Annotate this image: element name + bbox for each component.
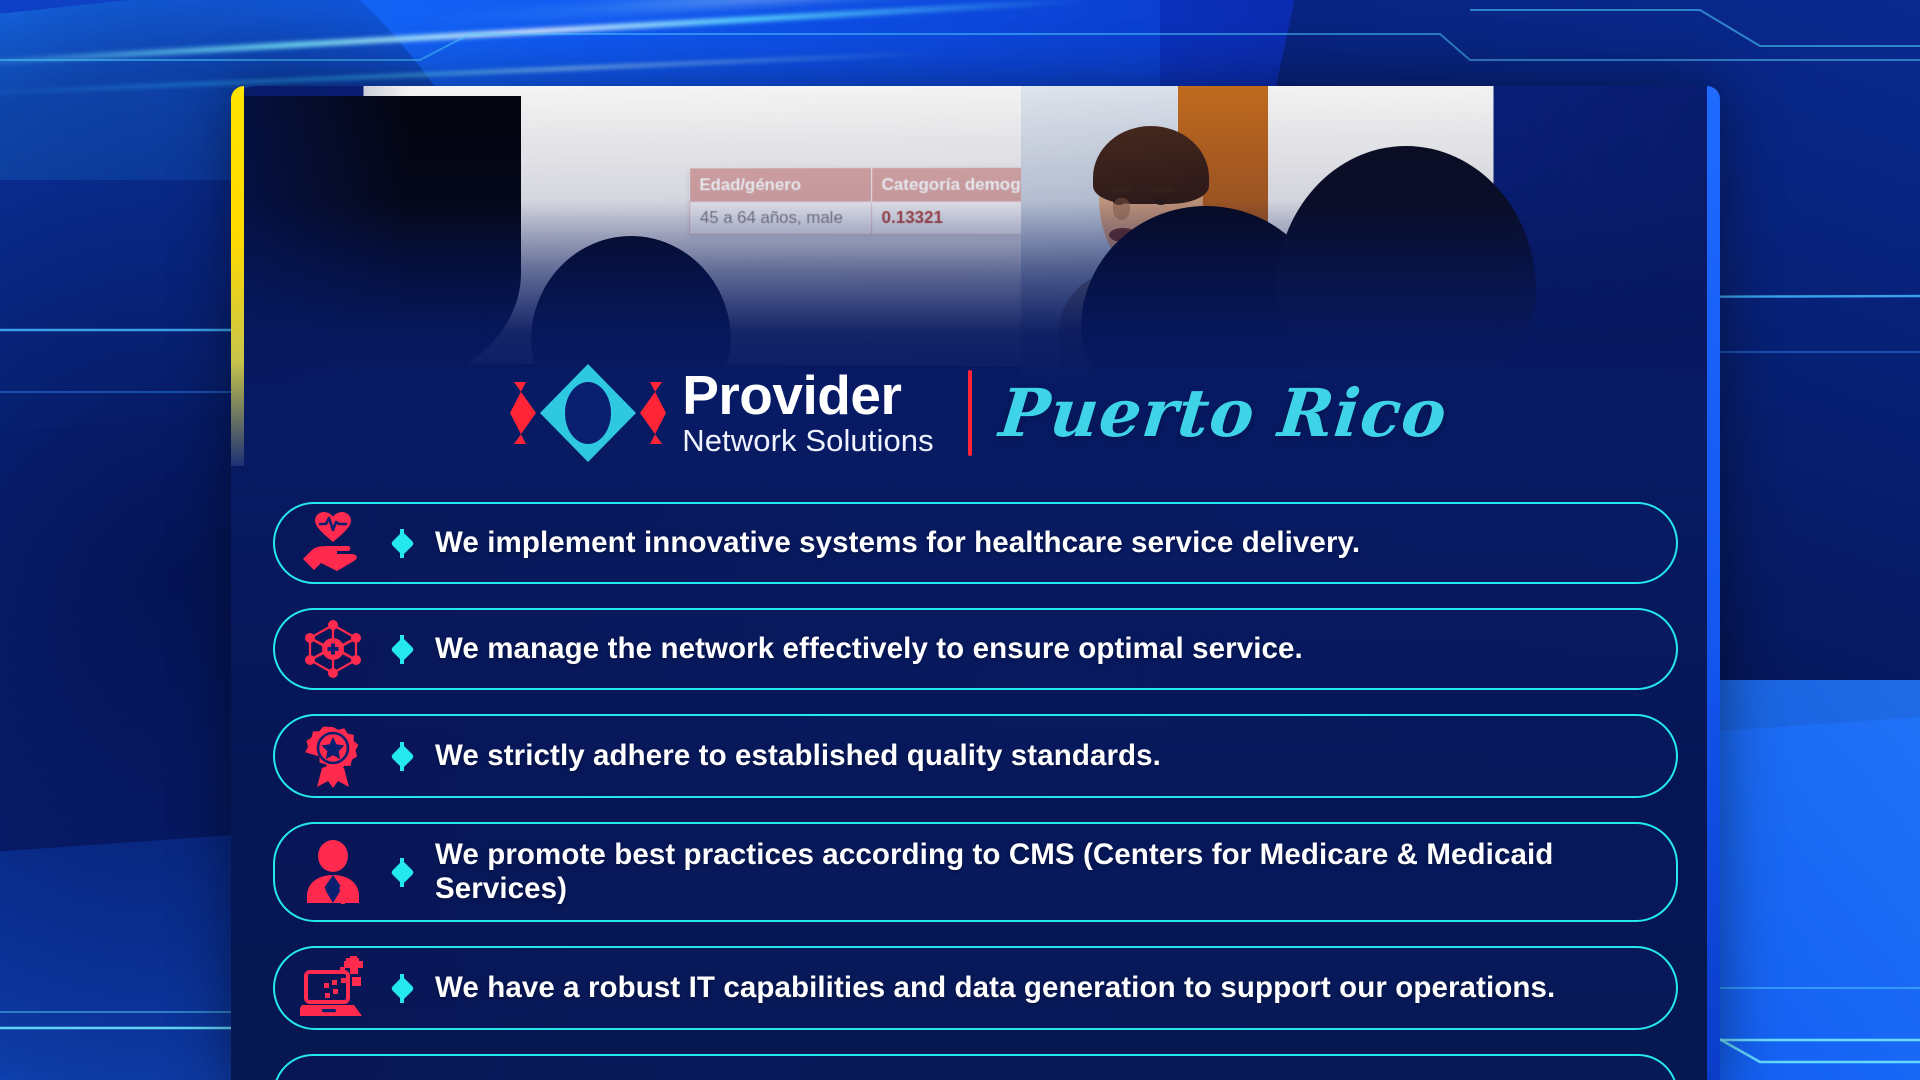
list-item[interactable]: We implement innovative systems for heal… bbox=[273, 502, 1678, 584]
doctor-stethoscope-icon bbox=[275, 840, 391, 904]
row-separator bbox=[391, 641, 413, 658]
row-separator bbox=[391, 864, 413, 881]
separator-diamond bbox=[390, 860, 414, 884]
brand-region: Puerto Rico bbox=[996, 374, 1451, 452]
panel-accent-yellow bbox=[231, 86, 244, 466]
bullet-list: We implement innovative systems for heal… bbox=[231, 502, 1720, 1080]
separator-diamond bbox=[390, 531, 414, 555]
separator-diamond bbox=[390, 744, 414, 768]
slide-stage: Edad/género Categoría demográfica 45 a 6… bbox=[0, 0, 1920, 1080]
content-panel: Edad/género Categoría demográfica 45 a 6… bbox=[231, 86, 1720, 1080]
list-item-label: We have a robust IT capabilities and dat… bbox=[413, 971, 1676, 1006]
brand-name-primary: Provider bbox=[682, 369, 934, 423]
row-separator bbox=[391, 535, 413, 552]
network-nodes-medical-icon bbox=[275, 618, 391, 680]
brand-name-secondary: Network Solutions bbox=[682, 425, 934, 458]
list-item[interactable]: We strictly adhere to established qualit… bbox=[273, 714, 1678, 798]
hand-heart-pulse-icon bbox=[275, 512, 391, 574]
photo-side-vignette bbox=[231, 86, 1720, 386]
list-item[interactable]: We manage the network effectively to ens… bbox=[273, 608, 1678, 690]
separator-diamond bbox=[390, 637, 414, 661]
laptop-data-icon bbox=[275, 956, 391, 1020]
brand-divider bbox=[968, 370, 972, 456]
list-item[interactable]: We have a robust IT capabilities and dat… bbox=[273, 946, 1678, 1030]
separator-diamond bbox=[390, 976, 414, 1000]
brand-name-block: Provider Network Solutions bbox=[682, 369, 934, 457]
provider-diamond-logo bbox=[504, 358, 672, 468]
row-separator bbox=[391, 748, 413, 765]
photo-banner: Edad/género Categoría demográfica 45 a 6… bbox=[231, 86, 1720, 386]
bg-light-flare bbox=[430, 0, 1129, 26]
quality-award-badge-icon bbox=[275, 724, 391, 788]
list-item[interactable]: We promote best practices according to C… bbox=[273, 822, 1678, 922]
list-item-label: We manage the network effectively to ens… bbox=[413, 632, 1676, 667]
list-item-partial[interactable] bbox=[273, 1054, 1678, 1080]
list-item-label: We strictly adhere to established qualit… bbox=[413, 739, 1676, 774]
brand-lockup: Provider Network Solutions Puerto Rico bbox=[231, 358, 1720, 468]
bg-light-streak-1 bbox=[0, 0, 1089, 67]
list-item-label: We implement innovative systems for heal… bbox=[413, 526, 1676, 561]
panel-accent-blue bbox=[1707, 86, 1720, 1080]
list-item-label: We promote best practices according to C… bbox=[413, 838, 1676, 907]
row-separator bbox=[391, 980, 413, 997]
